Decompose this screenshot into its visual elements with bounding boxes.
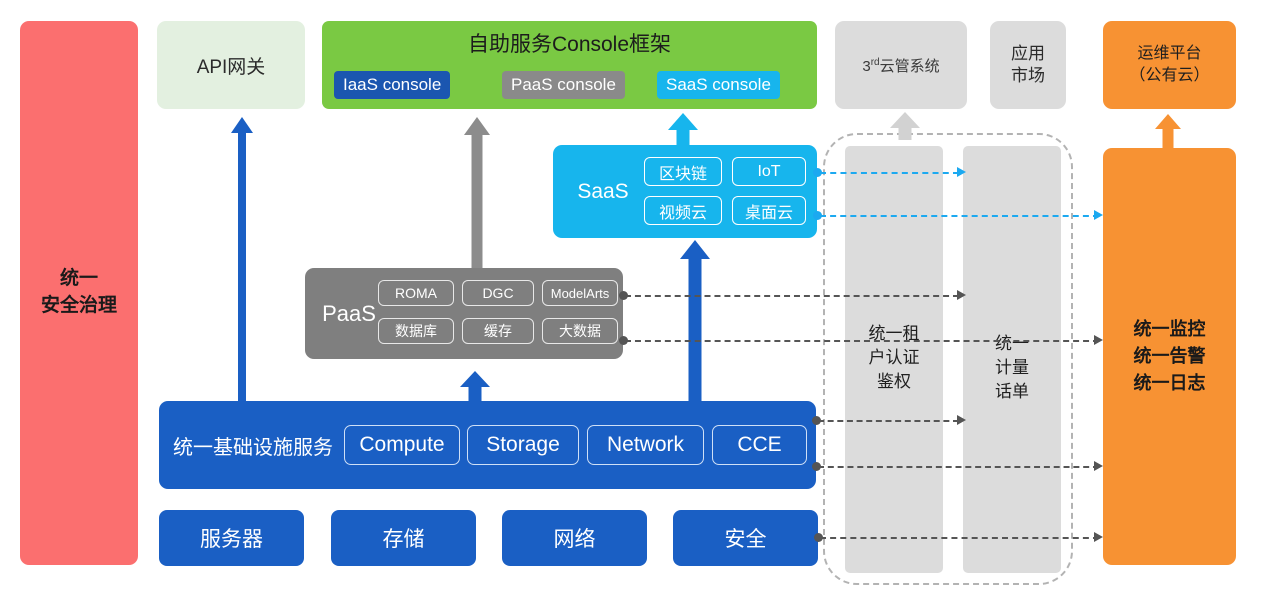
auth-line1: 统一租 [845,322,943,346]
arrowhead-paas-to-auth [957,290,966,300]
resource-box-storage[interactable]: 存储 [331,510,476,566]
auth-line3: 鉴权 [845,370,943,394]
saas-chip-blockchain[interactable]: 区块链 [644,157,722,186]
saas-chip-video-cloud[interactable]: 视频云 [644,196,722,225]
arrow-shared-to-third-cloud [890,112,920,140]
arrow-iaas-to-api-gateway [231,117,253,401]
third-party-cloud-management-box: 3rd云管系统 [835,21,967,109]
paas-chip-bigdata[interactable]: 大数据 [542,318,618,344]
paas-chip-modelarts[interactable]: ModelArts [542,280,618,306]
dashed-paas-to-ops [625,340,1099,342]
unified-infrastructure-service-bar: 统一基础设施服务 Compute Storage Network CCE [159,401,816,489]
iaas-chip-compute[interactable]: Compute [344,425,460,465]
third-cloud-label-post: 云管系统 [880,58,940,75]
paas-chip-cache[interactable]: 缓存 [462,318,534,344]
unified-tenant-auth-column: 统一租 户认证 鉴权 [845,146,943,573]
iaas-chip-cce[interactable]: CCE [712,425,807,465]
ops-monitoring-panel: 统一监控 统一告警 统一日志 [1103,148,1236,565]
auth-column-labels: 统一租 户认证 鉴权 [845,322,943,394]
iaas-console-chip[interactable]: IaaS console [334,71,450,99]
dashed-saas-to-auth [820,172,959,174]
arrow-shared-to-ops-platform [1155,114,1181,148]
app-market-box: 应用 市场 [990,21,1066,109]
resource-box-security[interactable]: 安全 [673,510,818,566]
ops-platform-line1: 运维平台 [1129,43,1209,65]
app-market-line2: 市场 [1011,65,1045,87]
arrowhead-saas-to-auth [957,167,966,177]
dashed-saas-to-ops [820,215,1099,217]
arrowhead-iaas-to-auth [957,415,966,425]
paas-console-chip[interactable]: PaaS console [502,71,625,99]
arrowhead-paas-to-ops [1094,335,1103,345]
paas-block: PaaS ROMA DGC ModelArts 数据库 缓存 大数据 [305,268,623,359]
auth-line2: 户认证 [845,346,943,370]
third-cloud-label-pre: 3 [862,58,870,75]
security-panel-line1: 统一 [41,266,117,293]
third-cloud-label-sup: rd [871,57,880,68]
ops-platform-line2: （公有云） [1129,65,1209,87]
saas-console-chip[interactable]: SaaS console [657,71,780,99]
saas-chip-desktop-cloud[interactable]: 桌面云 [732,196,806,225]
billing-column-labels: 统一 计量 话单 [963,332,1061,404]
ops-monitor-line2: 统一告警 [1134,343,1206,370]
saas-block: SaaS 区块链 IoT 视频云 桌面云 [553,145,817,238]
saas-label: SaaS [563,145,643,238]
architecture-diagram: 统一 安全治理 API网关 自助服务Console框架 IaaS console… [0,0,1265,605]
billing-line1: 统一 [963,332,1061,356]
arrowhead-iaas-to-ops [1094,461,1103,471]
dashed-resources-to-ops [820,537,1099,539]
arrow-iaas-to-paas [460,371,490,401]
api-gateway-label: API网关 [197,52,266,79]
paas-chip-database[interactable]: 数据库 [378,318,454,344]
iaas-chip-network[interactable]: Network [587,425,704,465]
security-governance-panel: 统一 安全治理 [20,21,138,565]
unified-metering-billing-column: 统一 计量 话单 [963,146,1061,573]
billing-line3: 话单 [963,380,1061,404]
resource-box-server[interactable]: 服务器 [159,510,304,566]
saas-chip-iot[interactable]: IoT [732,157,806,186]
arrow-paas-to-console [464,117,490,268]
dashed-iaas-to-ops [818,466,1099,468]
iaas-chip-storage[interactable]: Storage [467,425,579,465]
app-market-line1: 应用 [1011,43,1045,65]
ops-monitor-line1: 统一监控 [1134,316,1206,343]
paas-label: PaaS [313,268,385,359]
paas-chip-dgc[interactable]: DGC [462,280,534,306]
dashed-paas-to-auth [625,295,959,297]
ops-platform-box: 运维平台 （公有云） [1103,21,1236,109]
arrowhead-saas-to-ops [1094,210,1103,220]
resource-box-network[interactable]: 网络 [502,510,647,566]
console-framework-box: 自助服务Console框架 IaaS console PaaS console … [322,21,817,109]
console-framework-title: 自助服务Console框架 [322,28,817,58]
arrow-saas-to-console [668,113,698,145]
ops-monitor-line3: 统一日志 [1134,370,1206,397]
dashed-iaas-to-auth [818,420,959,422]
arrow-iaas-to-saas [680,240,710,401]
paas-chip-roma[interactable]: ROMA [378,280,454,306]
arrowhead-resources-to-ops [1094,532,1103,542]
iaas-label: 统一基础设施服务 [173,401,333,489]
billing-line2: 计量 [963,356,1061,380]
api-gateway-box: API网关 [157,21,305,109]
security-panel-line2: 安全治理 [41,293,117,320]
